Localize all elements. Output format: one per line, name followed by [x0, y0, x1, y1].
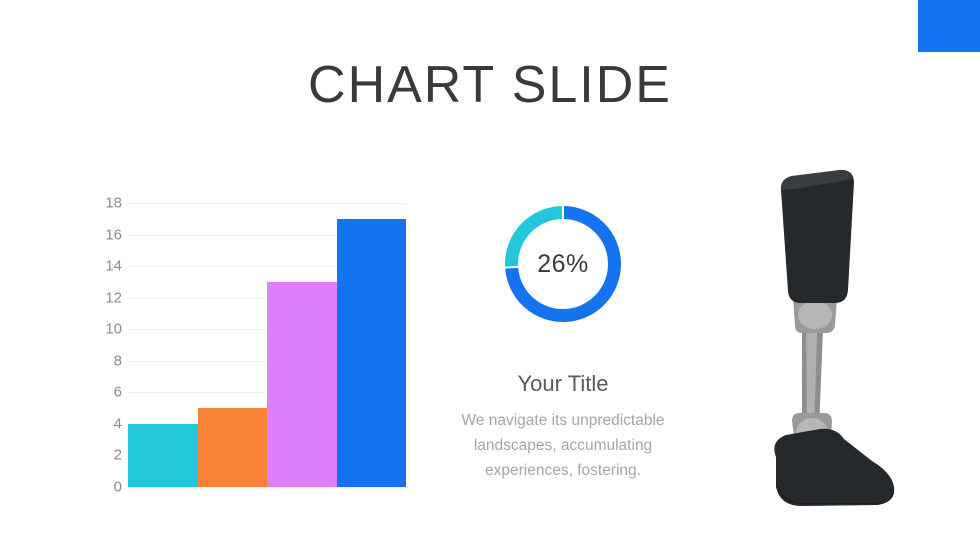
bar-2[interactable]	[198, 408, 268, 487]
y-axis-tick-label: 6	[90, 385, 122, 400]
bar-4[interactable]	[337, 219, 407, 487]
caption-line: landscapes, accumulating	[428, 433, 698, 458]
knee-joint-cap	[798, 301, 832, 329]
bar-3[interactable]	[267, 282, 337, 487]
y-axis-tick-label: 16	[90, 227, 122, 242]
caption-block: Your Title We navigate its unpredictable…	[428, 372, 698, 484]
caption-line: experiences, fostering.	[428, 458, 698, 483]
donut-center-value: 26%	[497, 198, 629, 330]
bar-chart: 024681012141618	[90, 195, 410, 495]
y-axis-tick-label: 2	[90, 448, 122, 463]
donut-chart: 26%	[497, 198, 629, 330]
y-axis-tick-label: 10	[90, 322, 122, 337]
accent-block	[918, 0, 980, 52]
slide-canvas: CHART SLIDE 024681012141618 26% Your Tit…	[0, 0, 980, 551]
bar-chart-bars	[128, 203, 406, 487]
socket	[781, 170, 854, 303]
y-axis-tick-label: 0	[90, 480, 122, 495]
bar-chart-plot-area	[128, 203, 406, 487]
page-title: CHART SLIDE	[0, 55, 980, 115]
shoe	[774, 429, 894, 506]
y-axis-tick-label: 8	[90, 353, 122, 368]
prosthetic-leg-illustration	[740, 165, 920, 510]
x-axis-baseline	[128, 487, 406, 488]
y-axis-tick-label: 18	[90, 196, 122, 211]
bar-1[interactable]	[128, 424, 198, 487]
caption-title: Your Title	[428, 372, 698, 396]
y-axis-tick-label: 14	[90, 259, 122, 274]
y-axis-tick-label: 12	[90, 290, 122, 305]
y-axis-tick-label: 4	[90, 416, 122, 431]
bar-chart-y-axis: 024681012141618	[90, 195, 122, 487]
caption-line: We navigate its unpredictable	[428, 408, 698, 433]
